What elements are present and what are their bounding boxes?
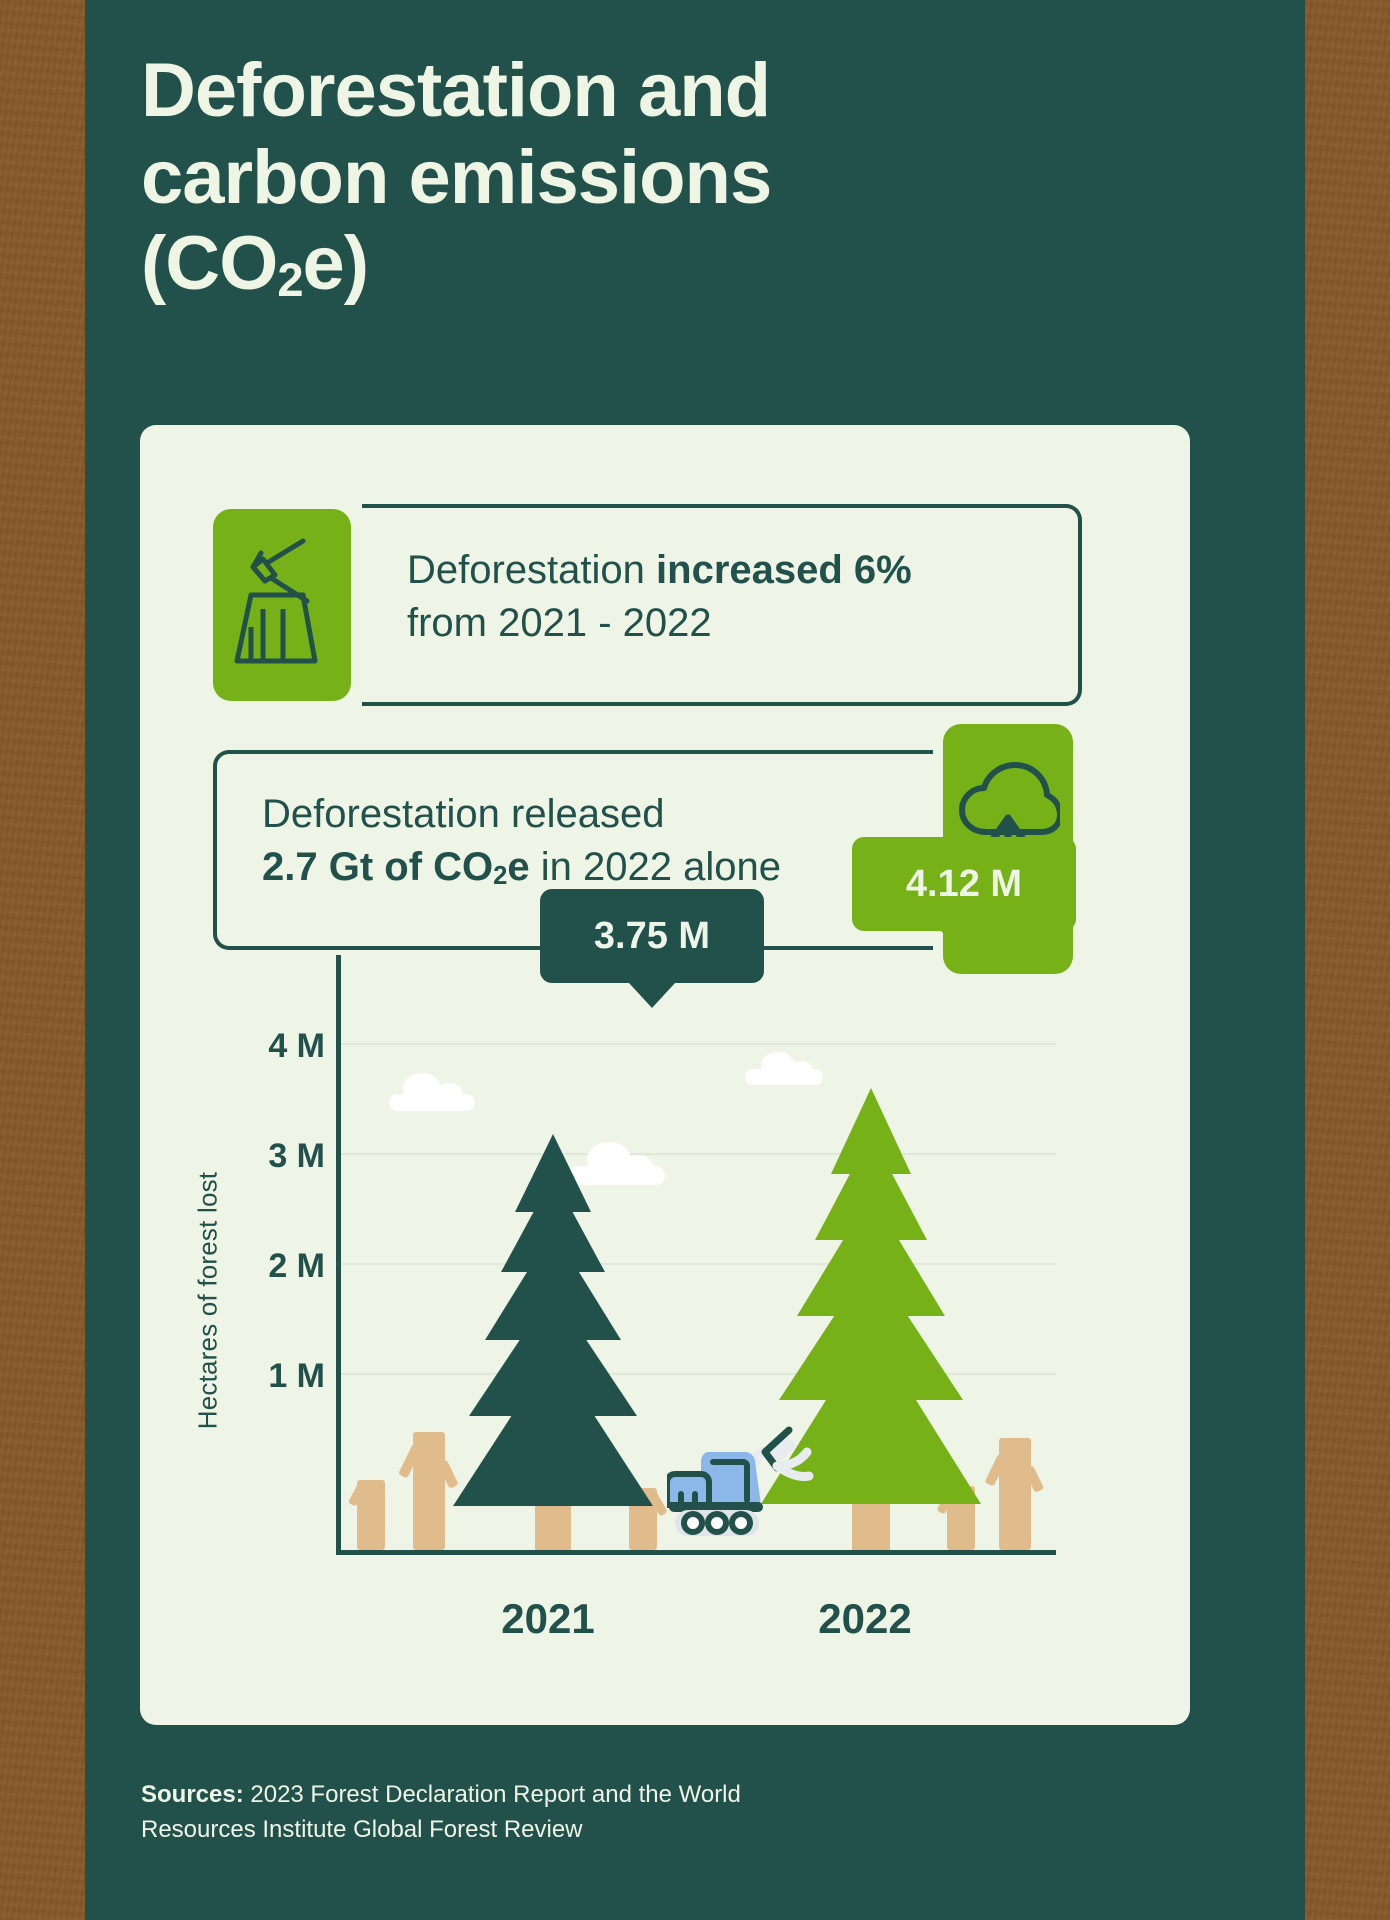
fact-box-deforestation-increase: Deforestation increased 6% from 2021 - 2… bbox=[362, 504, 1082, 706]
title-line-3-pre: (CO bbox=[141, 221, 277, 306]
x-tick-label-2021: 2021 bbox=[448, 1595, 648, 1643]
fact-1-line2: from 2021 - 2022 bbox=[407, 601, 712, 645]
title-line-2: carbon emissions bbox=[141, 135, 771, 220]
cloud-decoration bbox=[745, 1055, 823, 1085]
content-card: Deforestation increased 6% from 2021 - 2… bbox=[140, 425, 1190, 1725]
tree-stump-decoration bbox=[989, 1438, 1041, 1550]
bar-2021-tree[interactable] bbox=[453, 1140, 653, 1550]
fact-2-value: 2.7 Gt of CO2e bbox=[262, 845, 530, 889]
value-label-2022: 4.12 M bbox=[906, 863, 1022, 906]
sources-label: Sources: bbox=[141, 1781, 244, 1808]
y-tick-label: 4 M bbox=[205, 1027, 325, 1066]
fact-2-text: Deforestation released 2.7 Gt of CO2e in… bbox=[262, 788, 922, 894]
tree-stump-axe-icon bbox=[213, 509, 351, 701]
value-label-2021: 3.75 M bbox=[594, 915, 710, 958]
title-line-3-post: e) bbox=[303, 221, 369, 306]
title-line-1: Deforestation and bbox=[141, 48, 770, 133]
page-title: Deforestation and carbon emissions (CO2e… bbox=[141, 48, 901, 308]
poster-panel: Deforestation and carbon emissions (CO2e… bbox=[85, 0, 1305, 1920]
gridline bbox=[341, 1043, 1056, 1045]
fact-1-line1-bold: increased 6% bbox=[656, 548, 912, 592]
y-tick-label: 1 M bbox=[205, 1357, 325, 1396]
tree-stump-decoration bbox=[353, 1480, 387, 1550]
deforestation-bar-chart: Hectares of forest lost 4 M 3 M 2 M 1 M bbox=[140, 955, 1190, 1715]
value-tooltip-2022: 4.12 M bbox=[852, 837, 1076, 931]
y-tick-label: 2 M bbox=[205, 1247, 325, 1286]
y-tick-label: 3 M bbox=[205, 1137, 325, 1176]
fact-2-value-pre: 2.7 Gt of CO bbox=[262, 845, 493, 889]
fact-2-line1: Deforestation released bbox=[262, 792, 664, 836]
sources-note: Sources: 2023 Forest Declaration Report … bbox=[141, 1778, 781, 1848]
fact-2-co2-subscript: 2 bbox=[493, 862, 507, 890]
tooltip-tail bbox=[941, 931, 987, 956]
fact-1-line1-plain: Deforestation bbox=[407, 548, 656, 592]
tooltip-tail bbox=[629, 983, 675, 1008]
logging-excavator-icon bbox=[667, 1422, 817, 1550]
value-tooltip-2021: 3.75 M bbox=[540, 889, 764, 983]
plot-area bbox=[336, 955, 1056, 1555]
fact-1-text: Deforestation increased 6% from 2021 - 2… bbox=[407, 544, 1047, 650]
fact-2-line2-plain: in 2022 alone bbox=[530, 845, 781, 889]
fact-2-value-post: e bbox=[507, 845, 529, 889]
title-co2-subscript: 2 bbox=[277, 253, 302, 306]
x-tick-label-2022: 2022 bbox=[765, 1595, 965, 1643]
tree-stump-decoration bbox=[403, 1432, 455, 1550]
cloud-decoration bbox=[389, 1077, 475, 1111]
y-axis-ticks: 4 M 3 M 2 M 1 M bbox=[180, 955, 325, 1715]
